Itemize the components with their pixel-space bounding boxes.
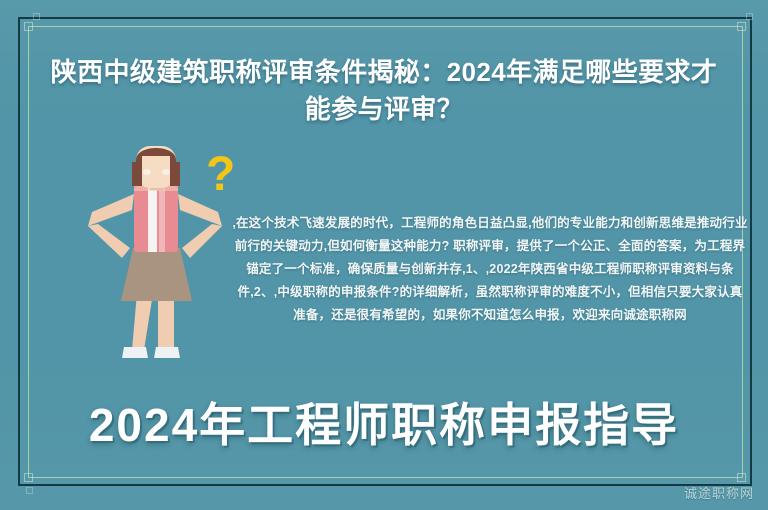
site-watermark: 诚途职称网 <box>684 483 754 502</box>
frame-corner-tick-top-right <box>737 22 746 31</box>
banner-headline: 2024年工程师职称申报指导 <box>34 398 734 452</box>
frame-mark-bottom-left <box>26 487 33 494</box>
frame-mark-top-left <box>33 13 40 20</box>
page-title: 陕西中级建筑职称评审条件揭秘：2024年满足哪些要求才能参与评审？ <box>42 54 726 128</box>
frame-corner-tick-top-left <box>24 22 33 31</box>
poster-canvas: 陕西中级建筑职称评审条件揭秘：2024年满足哪些要求才能参与评审？ <box>0 0 768 510</box>
confused-woman-illustration: ? <box>58 138 258 366</box>
question-mark-icon: ? <box>206 148 235 201</box>
frame-corner-tick-bottom-right <box>737 473 746 482</box>
frame-mark-top-right <box>746 13 753 20</box>
body-paragraph: ,在这个技术飞速发展的时代，工程师的角色日益凸显,他们的专业能力和创新思维是推动… <box>232 212 748 327</box>
frame-corner-tick-bottom-left <box>24 473 33 482</box>
